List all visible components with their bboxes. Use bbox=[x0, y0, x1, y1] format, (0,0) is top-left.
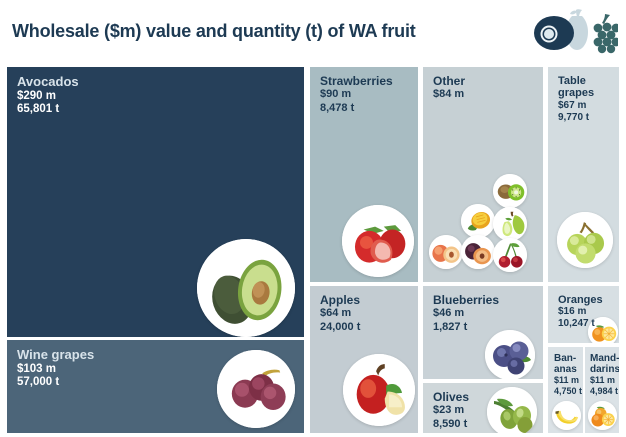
green-grapes-icon bbox=[557, 212, 613, 268]
cell-label-mandarins-line1: Mand- bbox=[590, 353, 619, 364]
cell-quantity-oranges: 10,247 t bbox=[558, 318, 603, 330]
cell-label-bananas-line1: Ban- bbox=[554, 353, 582, 364]
cell-value-table-grapes: $67 m bbox=[558, 100, 594, 112]
cherries-icon bbox=[493, 238, 527, 272]
cell-value-apples: $64 m bbox=[320, 307, 360, 320]
cell-value-avocados: $290 m bbox=[17, 90, 79, 104]
cell-quantity-olives: 8,590 t bbox=[433, 418, 469, 431]
avocado-icon bbox=[197, 239, 295, 337]
cell-quantity-strawberries: 8,478 t bbox=[320, 102, 393, 115]
cell-quantity-wine-grapes: 57,000 t bbox=[17, 376, 94, 390]
treemap-cell-avocados[interactable]: Avocados $290 m 65,801 t bbox=[7, 67, 304, 337]
cell-value-olives: $23 m bbox=[433, 404, 469, 417]
mango-icon bbox=[461, 204, 495, 238]
cell-label-wine-grapes: Wine grapes bbox=[17, 348, 94, 363]
cell-value-oranges: $16 m bbox=[558, 306, 603, 318]
mandarin-icon bbox=[588, 401, 617, 430]
cell-label-strawberries: Strawberries bbox=[320, 75, 393, 88]
treemap-cell-blueberries[interactable]: Blueberries $46 m 1,827 t bbox=[423, 286, 543, 379]
wine-grapes-icon bbox=[217, 350, 295, 428]
cell-quantity-bananas: 4,750 t bbox=[554, 386, 582, 397]
banana-icon bbox=[552, 401, 581, 430]
peach-icon bbox=[429, 235, 463, 269]
blueberry-icon bbox=[485, 330, 535, 379]
cell-value-wine-grapes: $103 m bbox=[17, 363, 94, 377]
strawberry-icon bbox=[342, 205, 414, 277]
treemap-cell-mandarins[interactable]: Mand- darins $11 m 4,984 t bbox=[585, 347, 619, 433]
cell-value-blueberries: $46 m bbox=[433, 307, 499, 320]
cell-label-mandarins-line2: darins bbox=[590, 364, 619, 375]
plum-icon bbox=[461, 235, 495, 269]
cell-label-bananas-line2: anas bbox=[554, 364, 582, 375]
treemap-chart: Avocados $290 m 65,801 t Wine grapes $10… bbox=[0, 62, 626, 437]
treemap-cell-oranges[interactable]: Oranges $16 m 10,247 t bbox=[548, 286, 619, 343]
treemap-cell-wine-grapes[interactable]: Wine grapes $103 m 57,000 t bbox=[7, 340, 304, 433]
cell-value-mandarins: $11 m bbox=[590, 375, 619, 386]
cell-label-apples: Apples bbox=[320, 294, 360, 307]
cell-value-strawberries: $90 m bbox=[320, 88, 393, 101]
avocado-pear-grapes-logo bbox=[532, 6, 618, 56]
treemap-cell-bananas[interactable]: Ban- anas $11 m 4,750 t bbox=[548, 347, 583, 433]
cell-quantity-blueberries: 1,827 t bbox=[433, 321, 499, 334]
cell-quantity-mandarins: 4,984 t bbox=[590, 386, 619, 397]
cell-label-table-grapes-line1: Table bbox=[558, 75, 594, 87]
treemap-cell-apples[interactable]: Apples $64 m 24,000 t bbox=[310, 286, 418, 433]
cell-value-other: $84 m bbox=[433, 88, 465, 101]
header: Wholesale ($m) value and quantity (t) of… bbox=[0, 0, 626, 62]
cell-quantity-table-grapes: 9,770 t bbox=[558, 112, 594, 124]
page-title: Wholesale ($m) value and quantity (t) of… bbox=[12, 21, 416, 42]
cell-label-table-grapes-line2: grapes bbox=[558, 87, 594, 99]
treemap-cell-strawberries[interactable]: Strawberries $90 m 8,478 t bbox=[310, 67, 418, 282]
olive-icon bbox=[487, 387, 537, 433]
treemap-cell-olives[interactable]: Olives $23 m 8,590 t bbox=[423, 383, 543, 433]
apple-icon bbox=[343, 354, 415, 426]
cell-label-avocados: Avocados bbox=[17, 75, 79, 90]
cell-label-oranges: Oranges bbox=[558, 294, 603, 306]
treemap-cell-other[interactable]: Other $84 m bbox=[423, 67, 543, 282]
cell-label-blueberries: Blueberries bbox=[433, 294, 499, 307]
pear-icon bbox=[493, 207, 527, 241]
cell-quantity-apples: 24,000 t bbox=[320, 321, 360, 334]
cell-value-bananas: $11 m bbox=[554, 375, 582, 386]
cell-label-other: Other bbox=[433, 75, 465, 88]
kiwi-icon bbox=[493, 174, 527, 208]
treemap-cell-table-grapes[interactable]: Table grapes $67 m 9,770 t bbox=[548, 67, 619, 282]
cell-quantity-avocados: 65,801 t bbox=[17, 103, 79, 117]
cell-label-olives: Olives bbox=[433, 391, 469, 404]
